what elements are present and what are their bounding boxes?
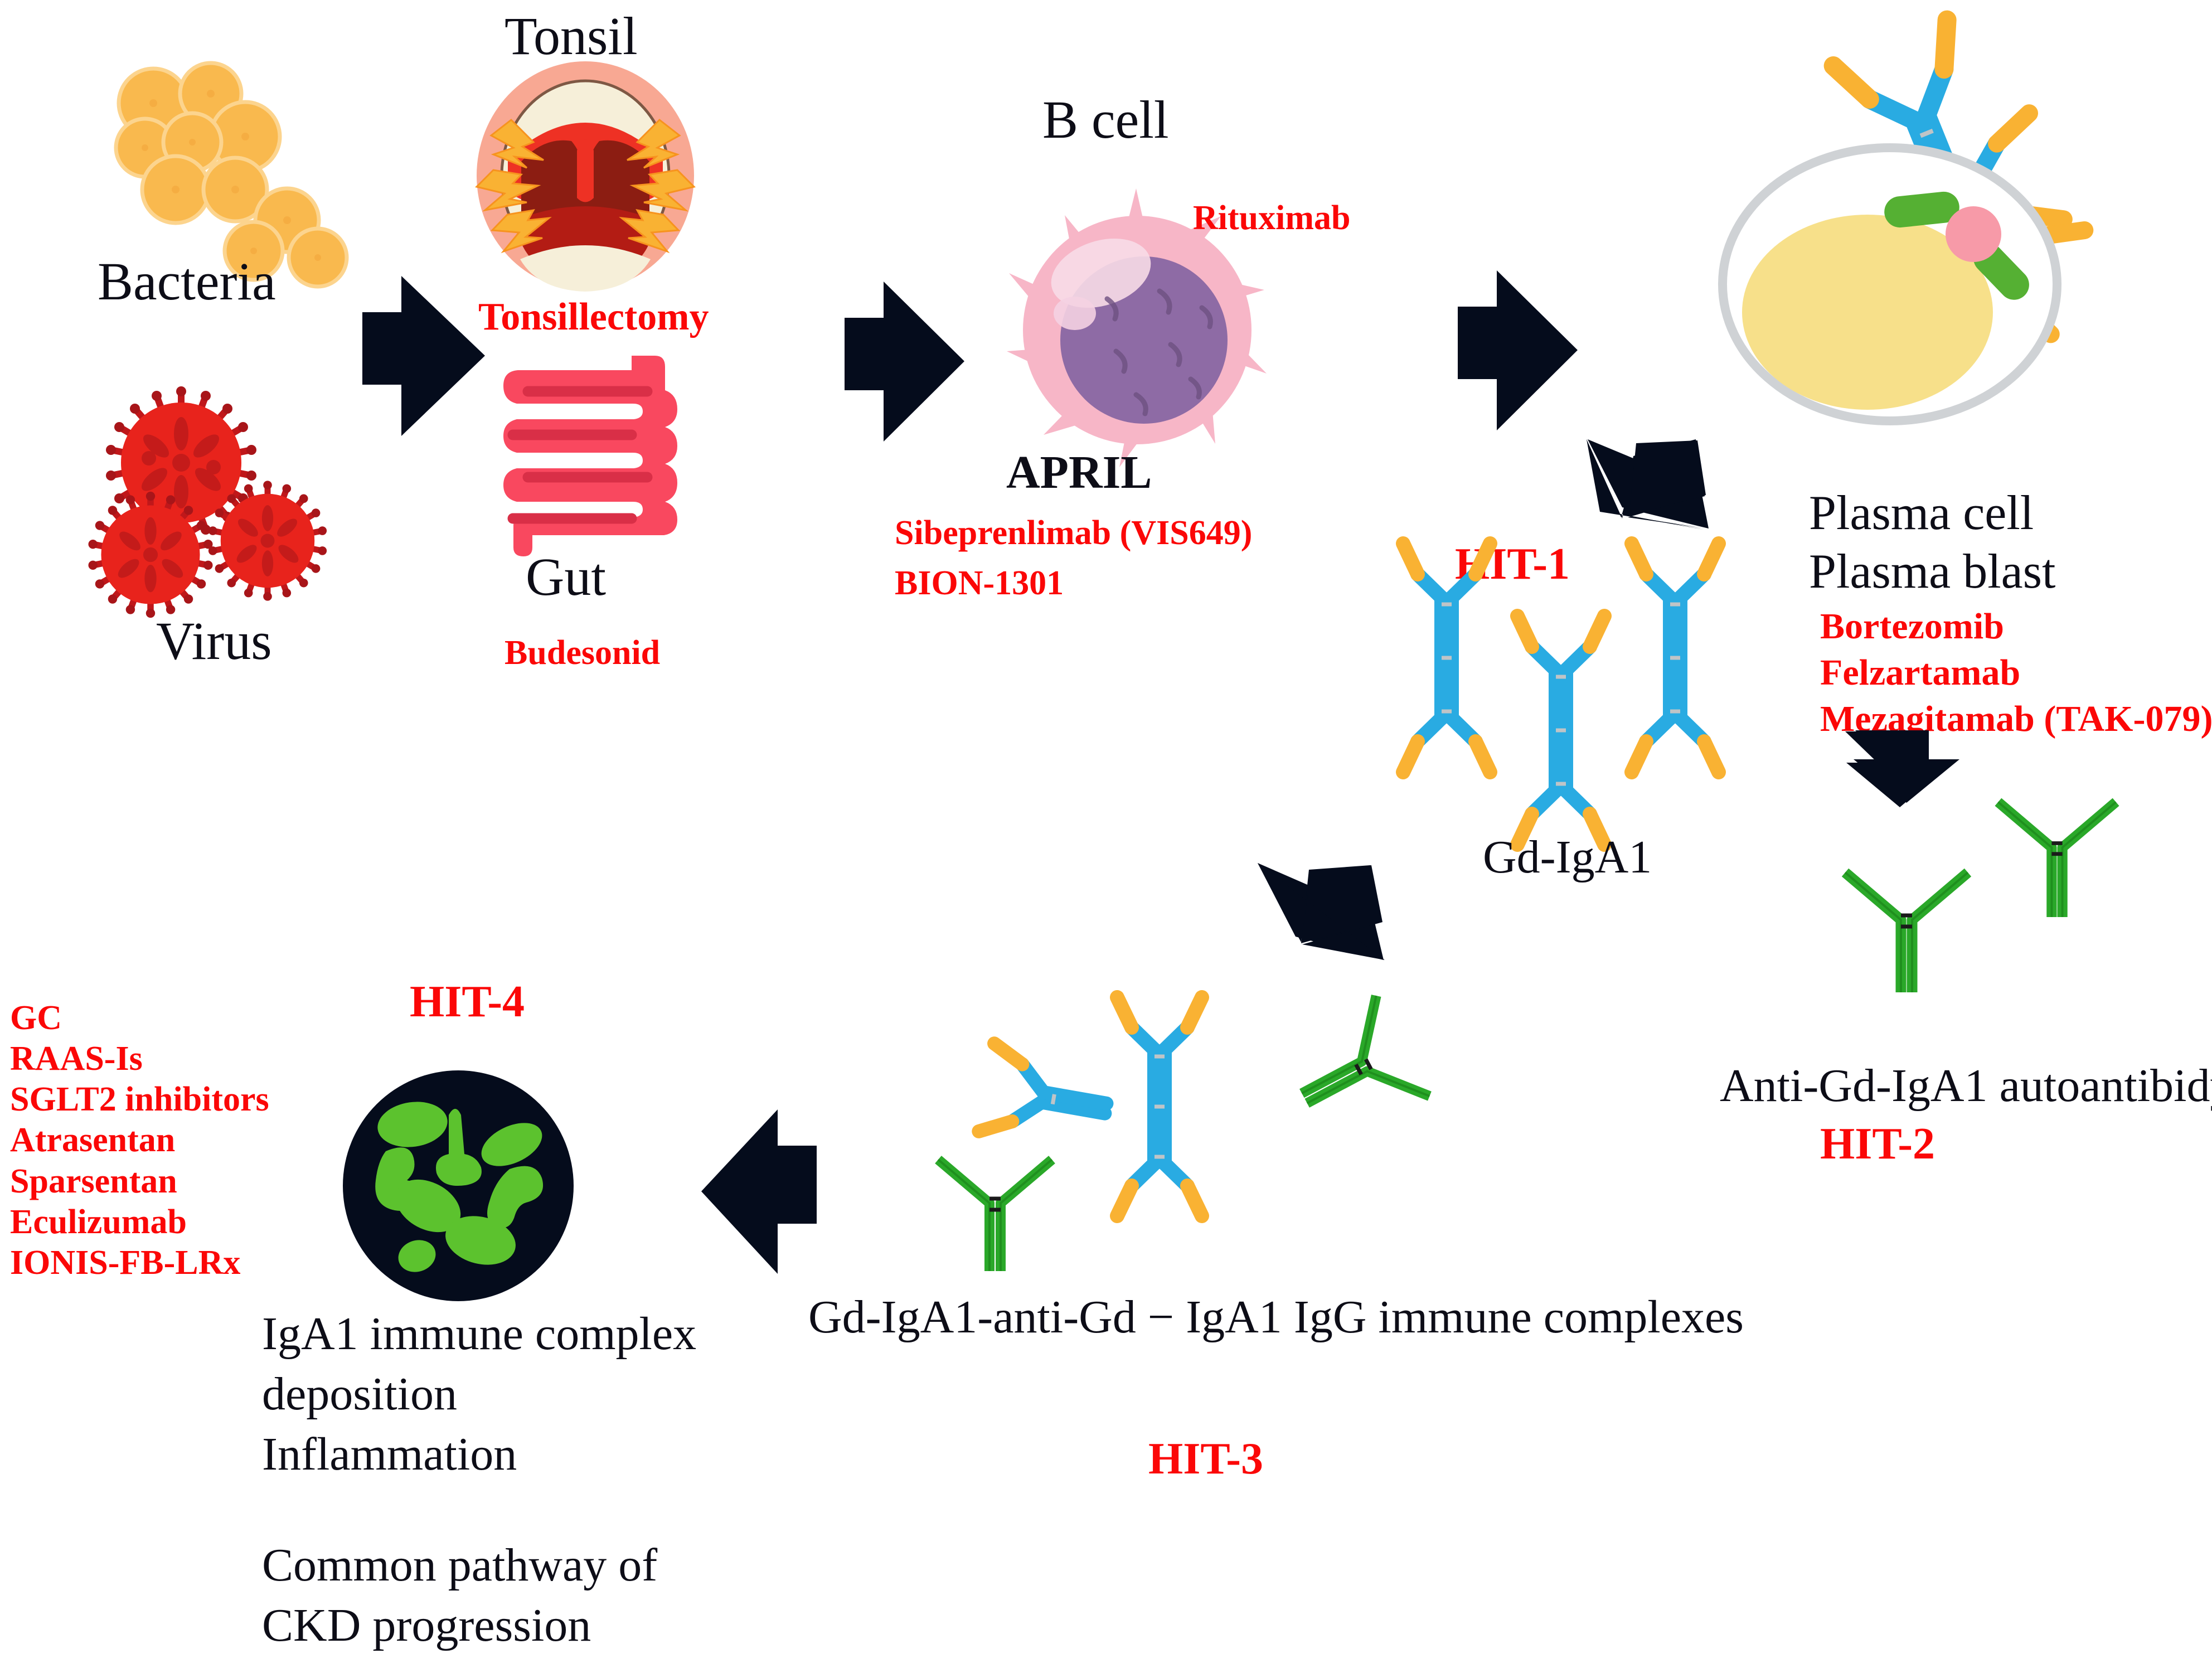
arrow-right-icon-1 [346, 273, 496, 440]
hit4-drug-list: GC RAAS-Is SGLT2 inhibitors Atrasentan S… [10, 998, 269, 1283]
hit2-label: HIT-2 [1820, 1118, 1935, 1170]
antibody-iga-complex-center [1117, 997, 1202, 1216]
april-label: APRIL [1006, 446, 1152, 500]
antibody-igg-green-2 [1998, 802, 2116, 917]
arrow-right-icon-2 [831, 279, 976, 446]
deposition-line-3: Inflammation [262, 1428, 517, 1482]
autoantibody-label: Anti-Gd-IgA1 autoantibidy [1720, 1059, 2212, 1113]
gd-iga1-antibodies-icon [1388, 580, 1734, 836]
virus-label: Virus [156, 610, 272, 672]
hit4-label: HIT-4 [410, 976, 525, 1028]
plasma-drug-2: Felzartamab [1820, 651, 2020, 695]
april-drug-2: BION-1301 [895, 563, 1064, 604]
hit4-drug-1: GC [10, 998, 269, 1039]
hit4-drug-6: Eculizumab [10, 1202, 269, 1243]
immune-complex-icon [881, 914, 1449, 1338]
deposition-line-2: deposition [262, 1368, 457, 1422]
bacteria-icon [84, 50, 346, 284]
gut-icon [488, 351, 700, 560]
antibody-igg-complex-left [938, 1160, 1052, 1271]
bacteria-label: Bacteria [98, 251, 276, 312]
plasma-drug-1: Bortezomib [1820, 605, 2004, 648]
antibody-gd-iga1-left [1403, 544, 1490, 772]
plasma-cell-text: Plasma cell [1809, 485, 2034, 541]
hit4-drug-4: Atrasentan [10, 1120, 269, 1161]
antibody-igg-complex-right [1278, 996, 1429, 1148]
arrow-diagonal-icon-1 [1566, 424, 1789, 602]
tonsil-icon [460, 53, 711, 298]
plasma-cell-icon [1700, 33, 2135, 491]
rituximab-label: Rituximab [1193, 198, 1350, 239]
arrow-left-icon [697, 1107, 842, 1279]
deposition-line-1: IgA1 immune complex [262, 1307, 696, 1361]
hit3-label: HIT-3 [1148, 1433, 1263, 1485]
budesonid-label: Budesonid [505, 633, 660, 673]
antibody-igg-green-1 [1845, 872, 1968, 992]
plasma-blast-text: Plasma blast [1809, 544, 2055, 600]
hit4-drug-3: SGLT2 inhibitors [10, 1079, 269, 1120]
hit4-drug-7: IONIS-FB-LRx [10, 1243, 269, 1283]
virus-icon [84, 390, 323, 619]
arrow-right-icon-3 [1444, 268, 1589, 435]
antibody-iga-complex-left [979, 1044, 1113, 1152]
april-drug-1: Sibeprenlimab (VIS649) [895, 513, 1252, 554]
antibody-gd-iga1-center [1517, 616, 1604, 845]
diagram-canvas: Bacteria [0, 0, 2212, 1663]
tonsillectomy-label: Tonsillectomy [478, 294, 709, 341]
hit4-drug-2: RAAS-Is [10, 1039, 269, 1079]
anti-gd-iga1-antibodies-icon [1767, 825, 2124, 1065]
common-pathway-line-2: CKD progression [262, 1599, 591, 1653]
gut-label: Gut [526, 546, 606, 608]
immune-complex-label: Gd-IgA1-anti-Gd − IgA1 IgG immune comple… [808, 1291, 1744, 1345]
b-cell-label: B cell [1042, 89, 1169, 151]
gd-iga1-label: Gd-IgA1 [1483, 831, 1652, 885]
hit4-drug-5: Sparsentan [10, 1161, 269, 1202]
common-pathway-line-1: Common pathway of [262, 1539, 657, 1593]
glomerulus-icon [334, 1062, 583, 1310]
